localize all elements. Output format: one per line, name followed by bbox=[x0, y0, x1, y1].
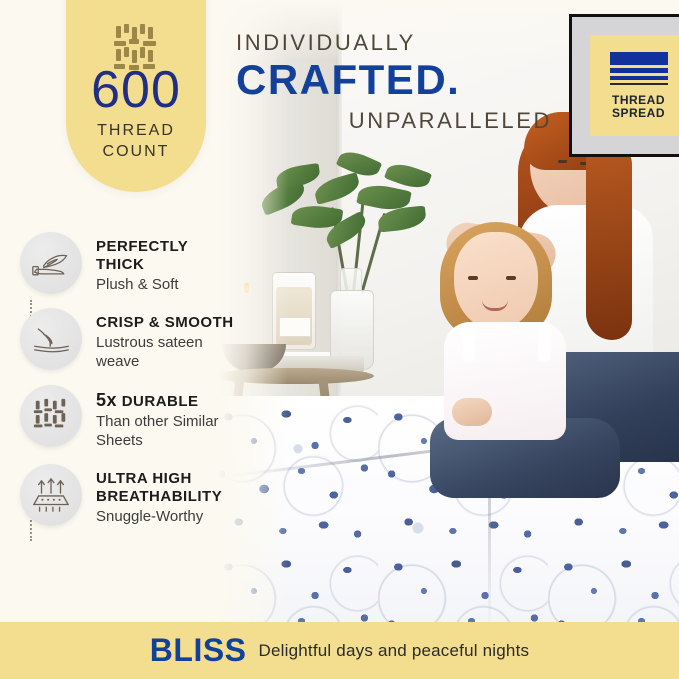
feature-text: PERFECTLY THICK Plush & Soft bbox=[82, 232, 235, 294]
feature-desc: Plush & Soft bbox=[96, 275, 235, 294]
header-block: INDIVIDUALLY CRAFTED. UNPARALLELED bbox=[236, 30, 556, 134]
feature-item: ULTRA HIGH BREATHABILITY Snuggle-Worthy bbox=[20, 464, 235, 526]
feature-title: PERFECTLY THICK bbox=[96, 238, 235, 274]
feature-text: ULTRA HIGH BREATHABILITY Snuggle-Worthy bbox=[82, 464, 235, 526]
feature-item: 5x DURABLE Than other Similar Sheets bbox=[20, 385, 235, 450]
banner-subtitle: Delightful days and peaceful nights bbox=[259, 641, 530, 661]
feature-title: CRISP & SMOOTH bbox=[96, 314, 235, 332]
feature-item: PERFECTLY THICK Plush & Soft bbox=[20, 232, 235, 294]
feature-text: CRISP & SMOOTH Lustrous sateen weave bbox=[82, 308, 235, 371]
thread-count-badge: 600 THREAD COUNT bbox=[66, 0, 206, 192]
brand-logo-frame: THREAD SPREAD bbox=[569, 14, 679, 157]
thread-count-number: 600 bbox=[66, 60, 206, 120]
feature-text: 5x DURABLE Than other Similar Sheets bbox=[82, 385, 235, 450]
bottom-banner: BLISS Delightful days and peaceful night… bbox=[0, 622, 679, 679]
feature-list: PERFECTLY THICK Plush & Soft CRISP & SMO… bbox=[20, 232, 235, 526]
feature-desc: Lustrous sateen weave bbox=[96, 333, 235, 371]
header-subtitle: UNPARALLELED bbox=[236, 108, 556, 134]
feature-title-prefix: 5x bbox=[96, 390, 117, 410]
breathability-arrows-icon bbox=[20, 464, 82, 526]
logo-bars-icon bbox=[610, 52, 668, 88]
feature-desc: Snuggle-Worthy bbox=[96, 507, 235, 526]
banner-title: BLISS bbox=[150, 632, 247, 669]
feature-title: ULTRA HIGH BREATHABILITY bbox=[96, 470, 235, 506]
feature-desc: Than other Similar Sheets bbox=[96, 412, 235, 450]
feature-title: 5x DURABLE bbox=[96, 391, 235, 411]
infographic-root: 600 THREAD COUNT INDIVIDUALLY CRAFTED. U… bbox=[0, 0, 679, 679]
weave-grid-icon bbox=[20, 385, 82, 447]
hand-fabric-icon bbox=[20, 308, 82, 370]
header-eyebrow: INDIVIDUALLY bbox=[236, 30, 556, 56]
brand-logo: THREAD SPREAD bbox=[590, 35, 679, 136]
header-title: CRAFTED. bbox=[236, 58, 556, 102]
brand-name: THREAD SPREAD bbox=[612, 94, 665, 120]
hand-feather-icon bbox=[20, 232, 82, 294]
feature-item: CRISP & SMOOTH Lustrous sateen weave bbox=[20, 308, 235, 371]
thread-count-label: THREAD COUNT bbox=[66, 120, 206, 162]
